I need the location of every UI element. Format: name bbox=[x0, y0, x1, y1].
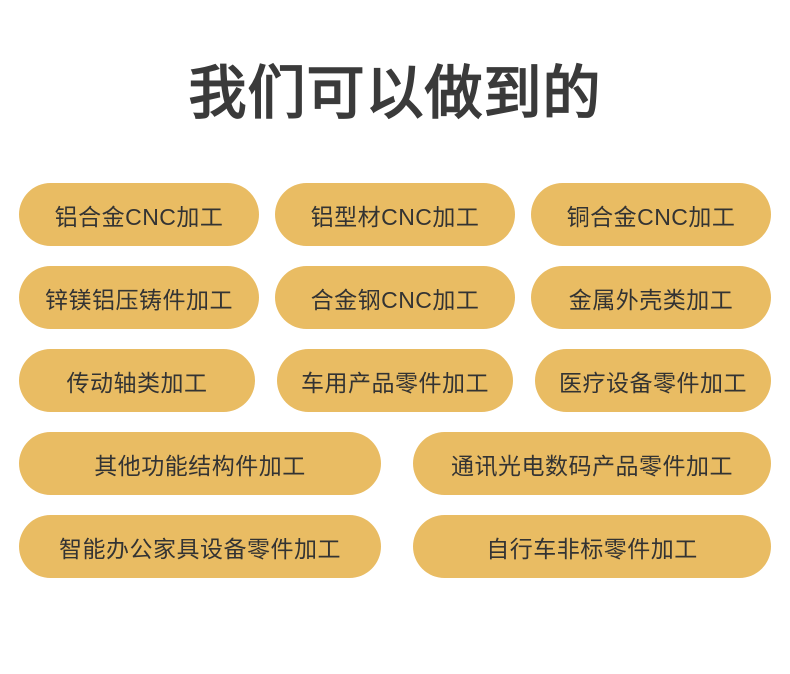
capability-pill-medical-equipment-parts[interactable]: 医疗设备零件加工 bbox=[535, 349, 771, 412]
capability-pill-telecom-optoelectronic-digital[interactable]: 通讯光电数码产品零件加工 bbox=[413, 432, 771, 495]
capability-row-3: 传动轴类加工 车用产品零件加工 医疗设备零件加工 bbox=[0, 349, 790, 412]
capability-pill-drive-shaft[interactable]: 传动轴类加工 bbox=[19, 349, 255, 412]
capability-pill-zinc-mag-alu-diecast[interactable]: 锌镁铝压铸件加工 bbox=[19, 266, 259, 329]
capability-pill-smart-office-furniture[interactable]: 智能办公家具设备零件加工 bbox=[19, 515, 381, 578]
capability-pill-aluminum-profile-cnc[interactable]: 铝型材CNC加工 bbox=[275, 183, 515, 246]
capability-pill-other-functional-structural[interactable]: 其他功能结构件加工 bbox=[19, 432, 381, 495]
capability-pill-metal-shell[interactable]: 金属外壳类加工 bbox=[531, 266, 771, 329]
capability-row-1: 铝合金CNC加工 铝型材CNC加工 铜合金CNC加工 bbox=[0, 183, 790, 246]
capability-pill-aluminum-alloy-cnc[interactable]: 铝合金CNC加工 bbox=[19, 183, 259, 246]
capability-pill-bicycle-nonstandard[interactable]: 自行车非标零件加工 bbox=[413, 515, 771, 578]
capability-row-4: 其他功能结构件加工 通讯光电数码产品零件加工 bbox=[0, 432, 790, 495]
capability-row-2: 锌镁铝压铸件加工 合金钢CNC加工 金属外壳类加工 bbox=[0, 266, 790, 329]
capability-pill-grid: 铝合金CNC加工 铝型材CNC加工 铜合金CNC加工 锌镁铝压铸件加工 合金钢C… bbox=[0, 183, 790, 598]
page-title: 我们可以做到的 bbox=[0, 58, 790, 130]
capability-pill-automotive-parts[interactable]: 车用产品零件加工 bbox=[277, 349, 513, 412]
capability-pill-copper-alloy-cnc[interactable]: 铜合金CNC加工 bbox=[531, 183, 771, 246]
capabilities-page: 我们可以做到的 铝合金CNC加工 铝型材CNC加工 铜合金CNC加工 锌镁铝压铸… bbox=[0, 0, 790, 674]
capability-pill-alloy-steel-cnc[interactable]: 合金钢CNC加工 bbox=[275, 266, 515, 329]
capability-row-5: 智能办公家具设备零件加工 自行车非标零件加工 bbox=[0, 515, 790, 578]
